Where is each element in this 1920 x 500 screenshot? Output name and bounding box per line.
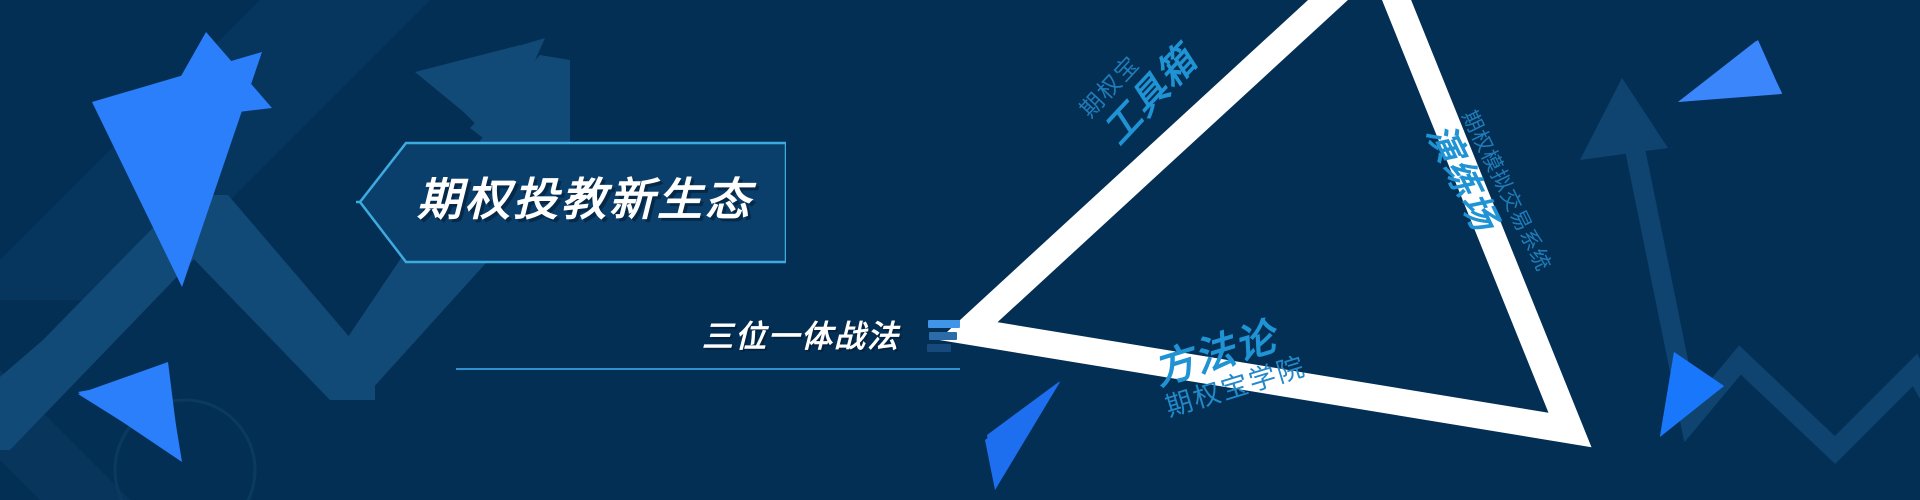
subtitle-text: 三位一体战法 xyxy=(702,321,900,352)
title-block: 期权投教新生态 xyxy=(356,126,786,278)
subtitle-block: 三位一体战法 xyxy=(540,312,960,382)
banner-canvas: 期权宝 工具箱 期权模拟交易系统 演练场 方法论 期权宝学院 期权投教新生态 三… xyxy=(0,0,1920,500)
pillars-triangle xyxy=(0,0,1920,500)
bar-middle-icon xyxy=(929,332,957,340)
page-title: 期权投教新生态 xyxy=(410,156,760,242)
bar-top-icon xyxy=(928,320,960,328)
subtitle-row: 三位一体战法 xyxy=(540,312,960,360)
bar-bottom-icon xyxy=(927,344,951,352)
subtitle-divider xyxy=(456,368,960,370)
three-bars-icon xyxy=(918,319,960,353)
